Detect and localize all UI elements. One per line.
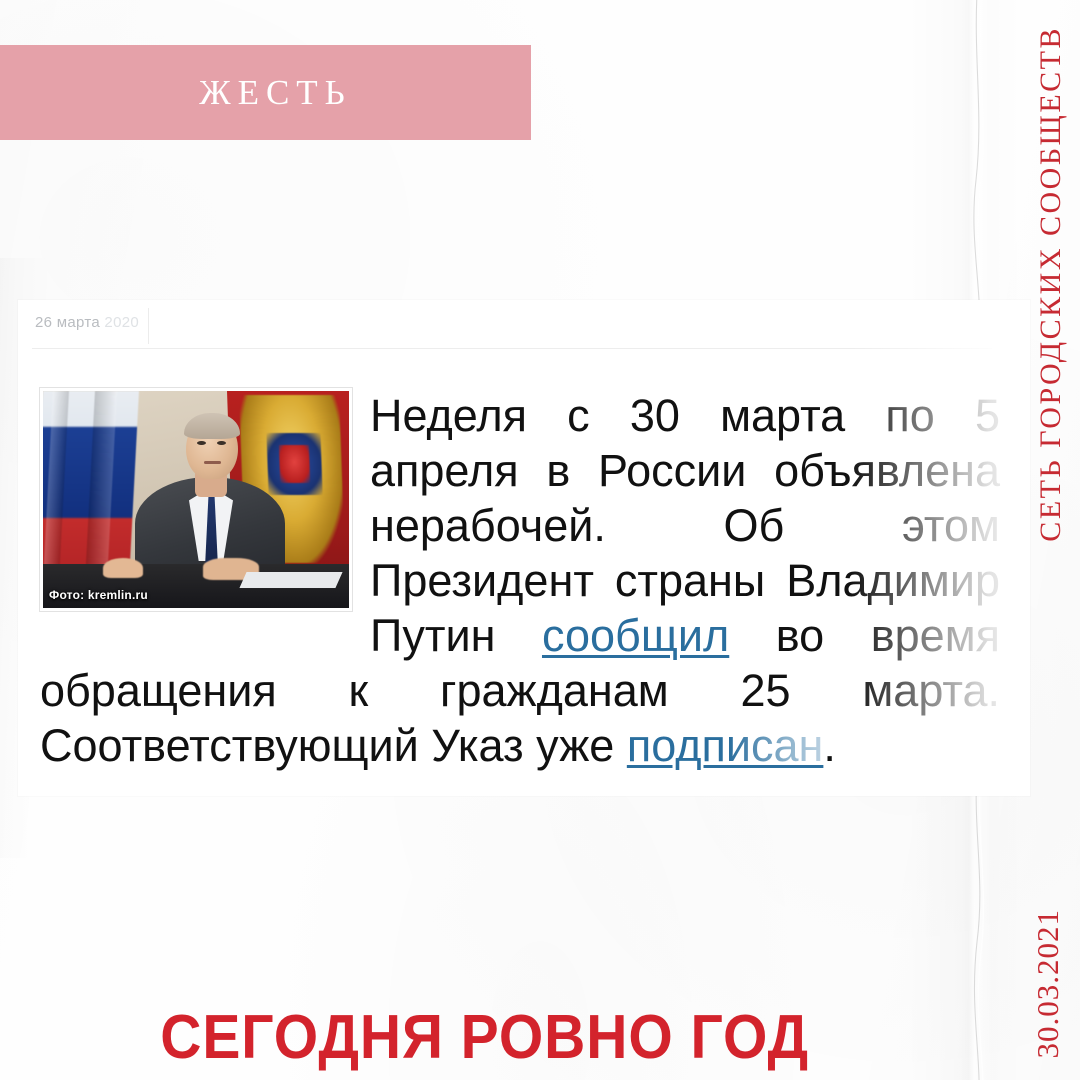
poster-canvas: ЖЕСТЬ 26 марта 2020: [0, 0, 1080, 1080]
article-publish-date-main: 26 марта: [35, 314, 100, 331]
article-date-rule: [148, 308, 149, 344]
article-publish-date-year: 2020: [100, 314, 139, 331]
article-text-part3: .: [823, 720, 836, 771]
brand-vertical-label: СЕТЬ ГОРОДСКИХ СООБЩЕСТВ: [1034, 26, 1068, 542]
category-banner: ЖЕСТЬ: [0, 45, 531, 140]
article-link-podpisan[interactable]: подписан: [627, 720, 824, 771]
article-photo-wrap-spacer: [40, 388, 370, 616]
article-body: Неделя с 30 марта по 5 апреля в России о…: [40, 388, 1000, 773]
category-banner-label: ЖЕСТЬ: [199, 73, 352, 113]
article-screenshot-card: 26 марта 2020: [18, 300, 1030, 796]
article-header-divider: [32, 348, 992, 349]
article-publish-date: 26 марта 2020: [35, 314, 139, 331]
headline-text: СЕГОДНЯ РОВНО ГОД: [161, 1002, 810, 1074]
article-link-soobshchil[interactable]: сообщил: [542, 610, 729, 661]
headline-block: СЕГОДНЯ РОВНО ГОД: [0, 1002, 1080, 1074]
